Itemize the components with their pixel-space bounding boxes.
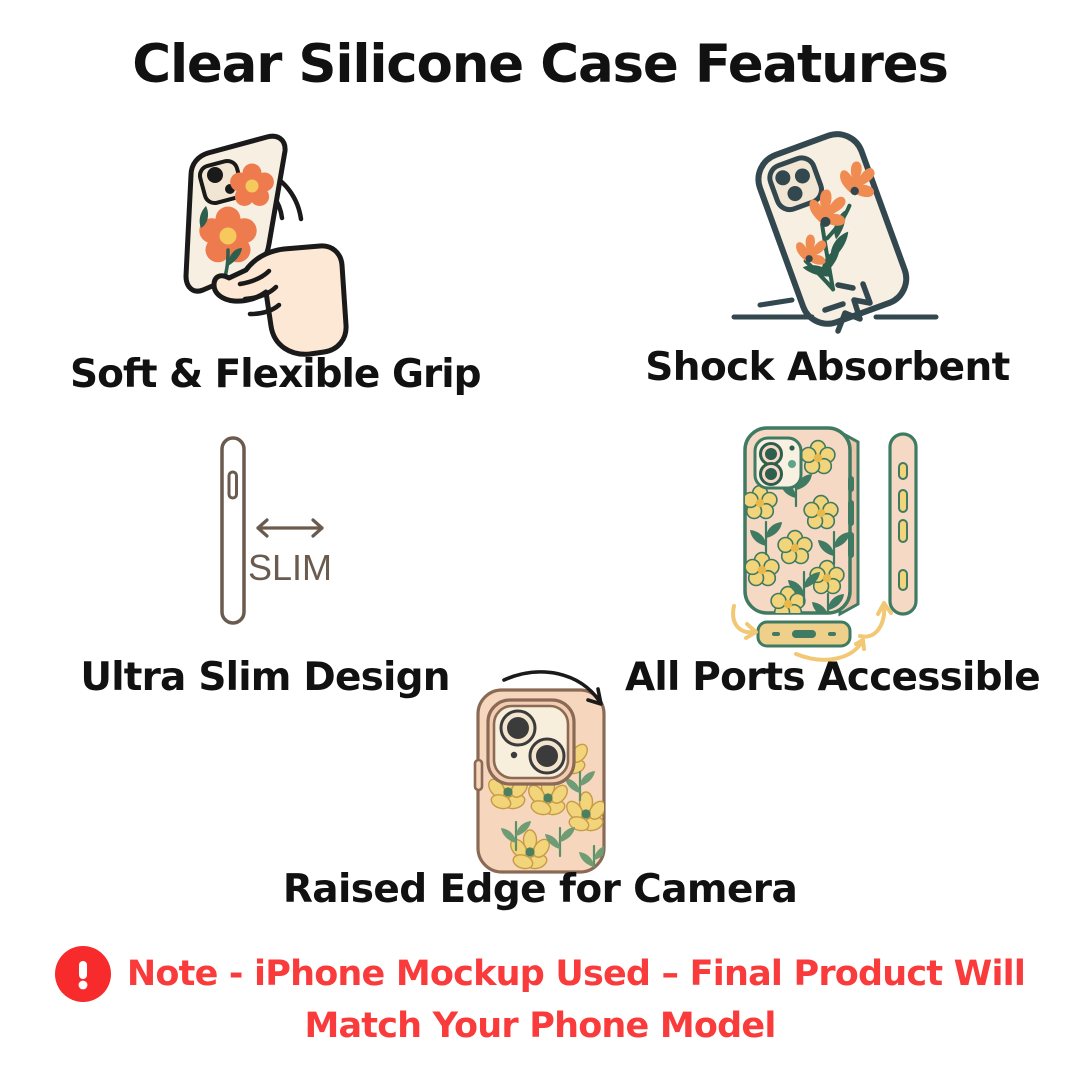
feature-label-all-ports-accessible: All Ports Accessible	[625, 655, 1025, 700]
feature-label-raised-edge-for-camera: Raised Edge for Camera	[230, 867, 850, 912]
page-title: Clear Silicone Case Features	[0, 34, 1080, 95]
feature-label-soft-flexible-grip: Soft & Flexible Grip	[70, 352, 450, 397]
feature-label-shock-absorbent: Shock Absorbent	[640, 345, 1015, 390]
feature-label-ultra-slim-design: Ultra Slim Design	[55, 655, 475, 700]
phone-case-camera-bump-icon	[448, 662, 660, 867]
note-text-line1: Note - iPhone Mockup Used – Final Produc…	[127, 954, 1025, 994]
note-line-1: Note - iPhone Mockup Used – Final Produc…	[55, 946, 1025, 1002]
phone-case-impact-icon	[720, 118, 950, 348]
phone-case-ports-icon	[700, 418, 945, 668]
phone-side-profile-slim-icon: SLIM	[180, 428, 370, 633]
exclamation-circle-icon	[55, 946, 111, 1002]
hand-flexing-phone-case-icon	[128, 118, 368, 354]
slim-caption: SLIM	[248, 547, 332, 588]
note-block: Note - iPhone Mockup Used – Final Produc…	[0, 946, 1080, 1046]
note-text-line2: Match Your Phone Model	[304, 1006, 775, 1046]
infographic-page: Clear Silicone Case Features	[0, 0, 1080, 1080]
